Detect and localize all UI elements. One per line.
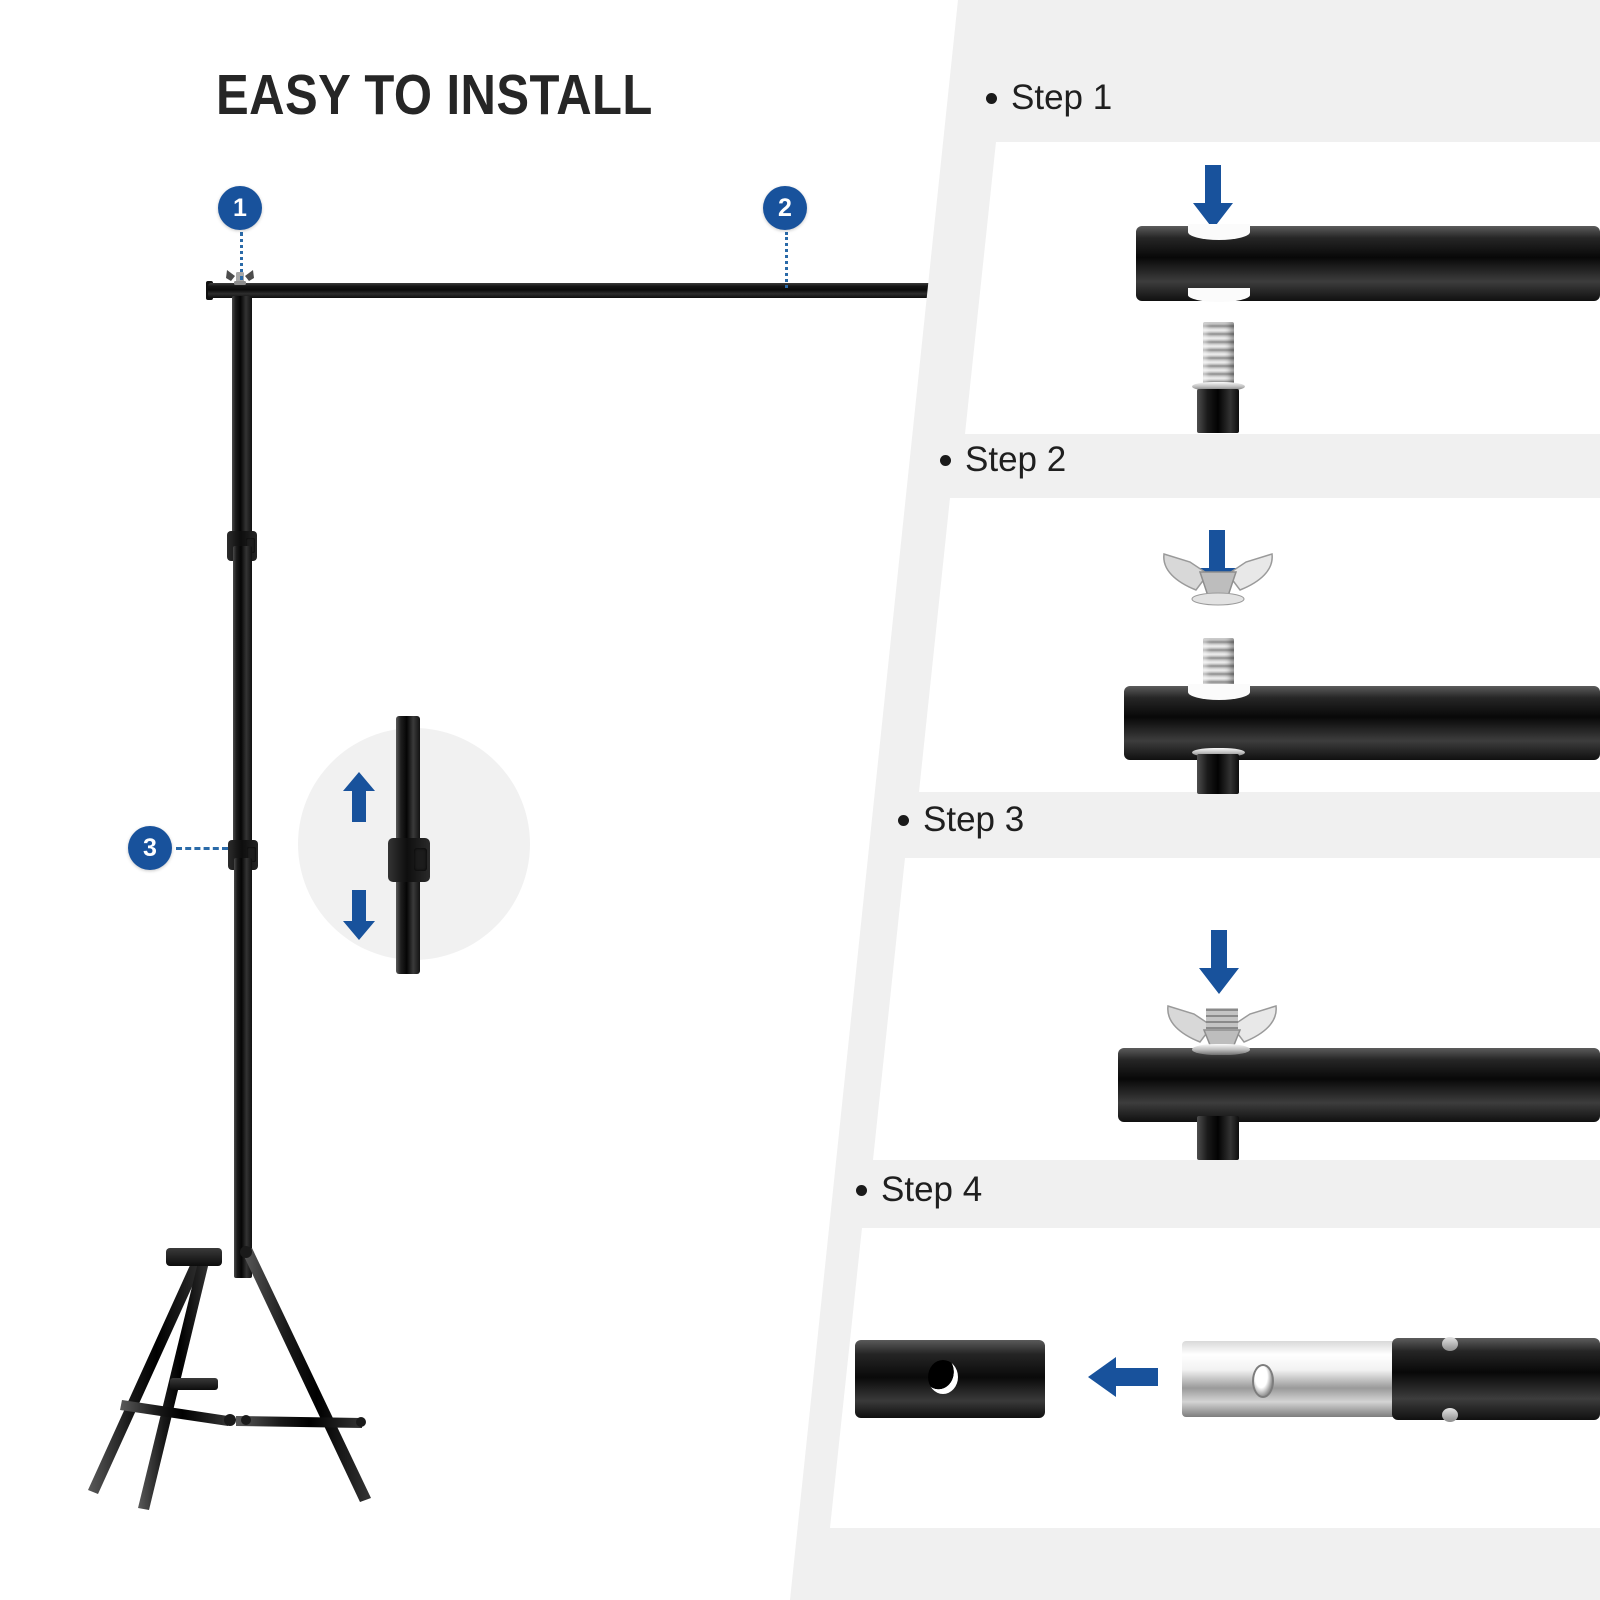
callout-badge-3[interactable]: 3 [128, 826, 172, 870]
middle-pole-segment [233, 546, 252, 862]
callout-leader-2 [785, 232, 788, 288]
socket-pin-hole [928, 1360, 958, 1394]
screw-base-cap [1197, 754, 1239, 794]
tube-hole-top [1188, 684, 1250, 700]
tube-hole-bottom [1188, 288, 1250, 302]
tripod-hub-lower [170, 1378, 218, 1390]
arrow-up-icon [342, 772, 376, 822]
arrow-down-icon [1198, 930, 1240, 994]
callout-badge-2[interactable]: 2 [763, 186, 807, 230]
tripod-hub-upper [166, 1248, 222, 1266]
horizontal-crossbar [208, 283, 932, 298]
tube-hole-top [1188, 224, 1250, 240]
chrome-connector [1182, 1341, 1402, 1417]
black-tube [1392, 1338, 1600, 1420]
threaded-screw [1203, 322, 1234, 388]
infographic-root: EASY TO INSTALL [0, 0, 1600, 1600]
zoom-clamp [388, 838, 430, 882]
arrow-left-icon [1088, 1355, 1158, 1399]
callout-leader-1 [240, 232, 243, 280]
tripod-base [60, 1240, 480, 1540]
crossbar-tube [1118, 1048, 1600, 1122]
lower-pole-segment [234, 858, 252, 1278]
arrow-down-icon [1192, 165, 1234, 229]
bullet-icon [898, 815, 909, 826]
wing-nut-icon [1160, 548, 1276, 610]
bullet-icon [940, 455, 951, 466]
step-label-text: Step 3 [923, 800, 1024, 840]
callout-leader-3 [176, 847, 228, 850]
callout-badge-1[interactable]: 1 [218, 186, 262, 230]
screw-base-cap [1197, 389, 1239, 433]
page-title: EASY TO INSTALL [216, 62, 653, 128]
upper-pole-segment [232, 296, 252, 548]
arrow-down-icon [342, 890, 376, 940]
screw-washer [1192, 1044, 1250, 1055]
rivet-bottom [1442, 1408, 1458, 1422]
connector-pin [1252, 1364, 1274, 1398]
step-label-4: Step 4 [856, 1170, 982, 1210]
step-label-1: Step 1 [986, 78, 1112, 118]
bullet-icon [856, 1185, 867, 1196]
bullet-icon [986, 93, 997, 104]
screw-base-cap [1197, 1116, 1239, 1160]
step-label-text: Step 4 [881, 1170, 982, 1210]
step-label-3: Step 3 [898, 800, 1024, 840]
step-label-text: Step 2 [965, 440, 1066, 480]
step-label-text: Step 1 [1011, 78, 1112, 118]
step-label-2: Step 2 [940, 440, 1066, 480]
rivet-top [1442, 1337, 1458, 1351]
